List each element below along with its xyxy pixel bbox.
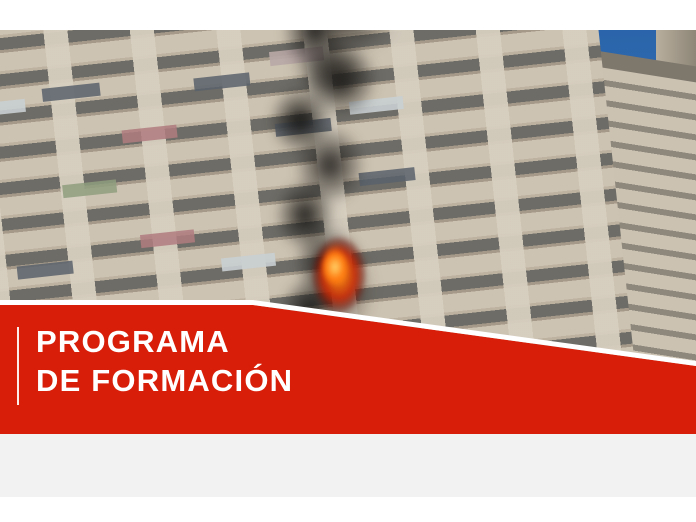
- sponsor-logo-strip: [0, 434, 696, 497]
- page-title: PROGRAMA DE FORMACIÓN: [36, 322, 293, 401]
- bottom-white-margin: [0, 497, 696, 522]
- smoke-plume-upper: [290, 30, 410, 190]
- headline-line-1: PROGRAMA: [36, 324, 230, 359]
- headline-line-2: DE FORMACIÓN: [36, 361, 293, 400]
- headline-accent-rule: [17, 327, 19, 405]
- poster-canvas: PROGRAMA DE FORMACIÓN LPS LA PERSEVERANC…: [0, 0, 696, 522]
- fire-core: [318, 244, 352, 290]
- top-white-margin: [0, 0, 696, 30]
